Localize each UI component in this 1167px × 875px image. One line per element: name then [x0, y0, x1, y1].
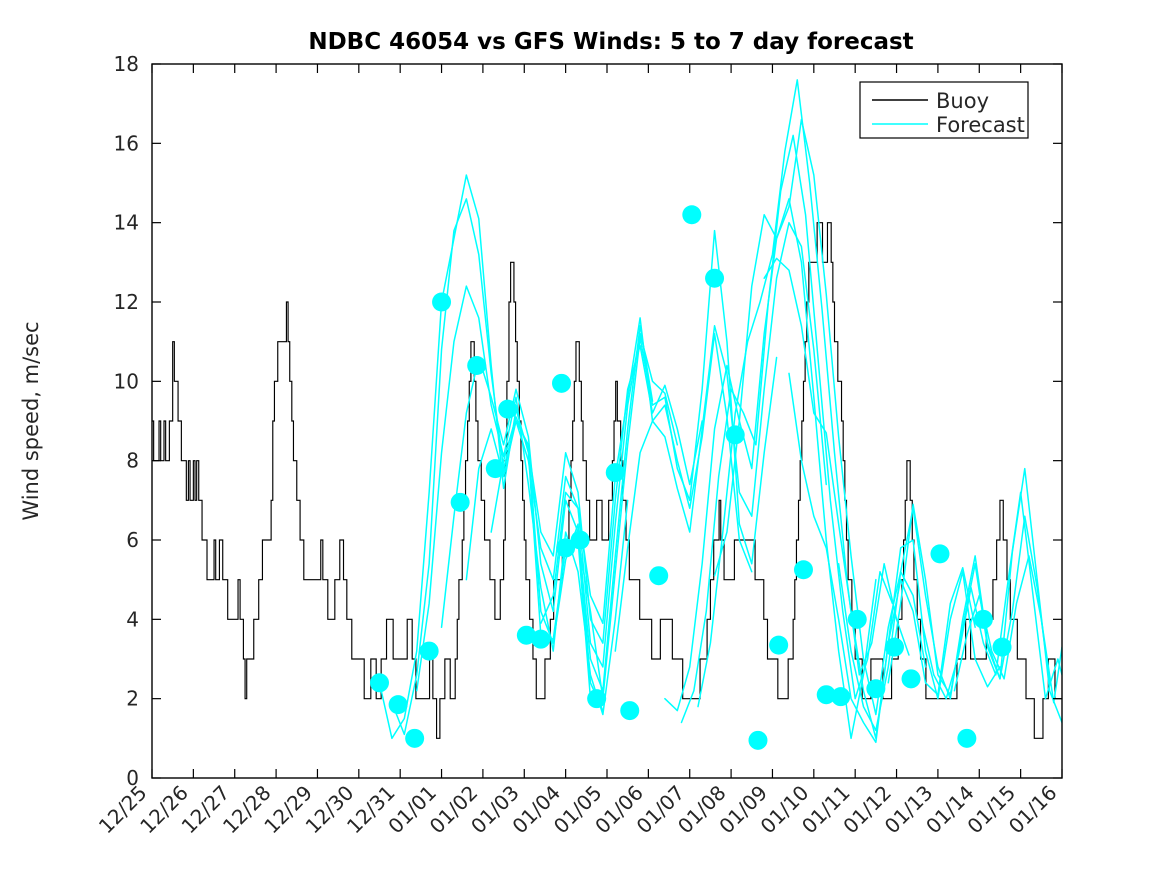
forecast-marker-dot	[405, 729, 424, 748]
legend-label-forecast: Forecast	[936, 113, 1025, 137]
y-axis-label: Wind speed, m/sec	[19, 321, 43, 520]
forecast-marker-dot	[467, 356, 486, 375]
forecast-marker-dot	[993, 638, 1012, 657]
forecast-marker-dot	[957, 729, 976, 748]
forecast-marker-dot	[794, 560, 813, 579]
forecast-marker-dot	[370, 673, 389, 692]
y-tick-label: 4	[126, 607, 139, 631]
forecast-marker-dot	[682, 205, 701, 224]
forecast-marker-dot	[769, 636, 788, 655]
y-tick-label: 6	[126, 528, 139, 552]
forecast-marker-dot	[649, 566, 668, 585]
chart-figure: NDBC 46054 vs GFS Winds: 5 to 7 day fore…	[0, 0, 1167, 875]
forecast-marker-dot	[831, 687, 850, 706]
forecast-marker-dot	[486, 459, 505, 478]
legend-label-buoy: Buoy	[936, 89, 989, 113]
forecast-marker-dot	[726, 425, 745, 444]
y-tick-label: 18	[114, 52, 139, 76]
forecast-marker-dot	[389, 695, 408, 714]
y-tick-label: 10	[114, 369, 139, 393]
wind-speed-chart: NDBC 46054 vs GFS Winds: 5 to 7 day fore…	[0, 0, 1167, 875]
y-tick-label: 2	[126, 687, 139, 711]
forecast-marker-dot	[705, 269, 724, 288]
y-tick-label: 8	[126, 449, 139, 473]
forecast-marker-dot	[930, 544, 949, 563]
y-tick-label: 16	[114, 131, 139, 155]
forecast-marker-dot	[420, 642, 439, 661]
forecast-marker-dot	[885, 638, 904, 657]
chart-title: NDBC 46054 vs GFS Winds: 5 to 7 day fore…	[308, 29, 913, 55]
forecast-marker-dot	[620, 701, 639, 720]
forecast-marker-dot	[748, 731, 767, 750]
forecast-marker-dot	[902, 669, 921, 688]
forecast-marker-dot	[974, 610, 993, 629]
forecast-marker-dot	[498, 400, 517, 419]
forecast-marker-dot	[571, 531, 590, 550]
forecast-marker-dot	[451, 493, 470, 512]
forecast-marker-dot	[848, 610, 867, 629]
forecast-marker-dot	[552, 374, 571, 393]
forecast-marker-dot	[432, 293, 451, 312]
chart-legend[interactable]: Buoy Forecast	[860, 82, 1028, 138]
forecast-marker-dot	[866, 679, 885, 698]
y-tick-label: 14	[114, 211, 139, 235]
y-tick-label: 12	[114, 290, 139, 314]
forecast-marker-dot	[531, 630, 550, 649]
forecast-marker-dot	[606, 463, 625, 482]
forecast-marker-dot	[587, 689, 606, 708]
